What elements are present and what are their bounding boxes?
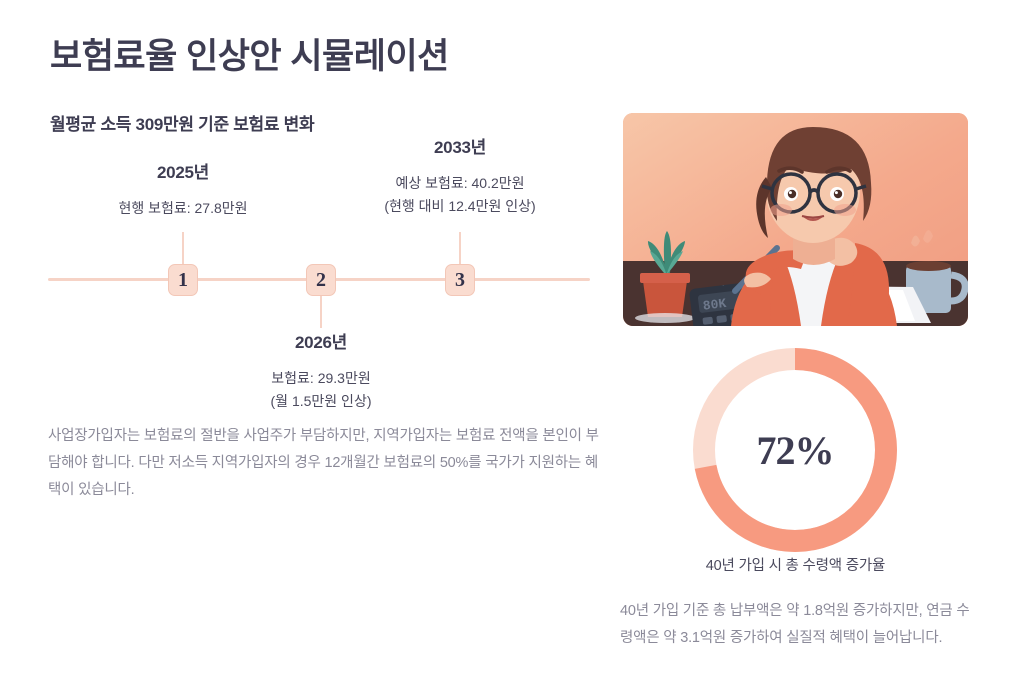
timeline-year-2: 2026년 xyxy=(191,328,451,353)
right-paragraph: 40년 가입 기준 총 납부액은 약 1.8억원 증가하지만, 연금 수령액은 … xyxy=(620,598,980,652)
timeline-detail-3-line-2: (현행 대비 12.4만원 인상) xyxy=(330,195,590,218)
timeline-stem-2 xyxy=(320,296,322,328)
infographic-page: 보험료율 인상안 시뮬레이션 월평균 소득 309만원 기준 보험료 변화 20… xyxy=(0,0,1024,688)
retirement-increase-donut: 72% xyxy=(693,348,897,552)
premium-timeline: 2025년 현행 보험료: 27.8만원 1 2 2026년 보험료: 29.3… xyxy=(0,150,610,430)
svg-text:80K: 80K xyxy=(702,296,727,314)
timeline-detail-3-line-1: 예상 보험료: 40.2만원 xyxy=(330,172,590,195)
timeline-year-3: 2033년 xyxy=(330,133,590,158)
timeline-stem-3 xyxy=(459,232,461,264)
illustration-svg: 80K xyxy=(623,113,968,326)
timeline-label-2: 2026년 보험료: 29.3만원 (월 1.5만원 인상) xyxy=(191,328,451,413)
desk-worker-illustration: 80K xyxy=(623,113,968,326)
donut-caption: 40년 가입 시 총 수령액 증가율 xyxy=(623,554,968,575)
page-title: 보험료율 인상안 시뮬레이션 xyxy=(50,28,449,79)
timeline-stem-1 xyxy=(182,232,184,264)
timeline-marker-1[interactable]: 1 xyxy=(168,264,198,296)
timeline-label-3: 2033년 예상 보험료: 40.2만원 (현행 대비 12.4만원 인상) xyxy=(330,133,590,218)
section-subtitle: 월평균 소득 309만원 기준 보험료 변화 xyxy=(50,110,314,135)
timeline-label-1: 2025년 현행 보험료: 27.8만원 xyxy=(53,158,313,220)
timeline-detail-2-line-2: (월 1.5만원 인상) xyxy=(191,390,451,413)
timeline-marker-2[interactable]: 2 xyxy=(306,264,336,296)
timeline-year-1: 2025년 xyxy=(53,158,313,183)
timeline-marker-3[interactable]: 3 xyxy=(445,264,475,296)
timeline-detail-1-line-1: 현행 보험료: 27.8만원 xyxy=(53,197,313,220)
donut-center-label: 72% xyxy=(693,348,897,552)
timeline-detail-2-line-1: 보험료: 29.3만원 xyxy=(191,367,451,390)
left-paragraph: 사업장가입자는 보험료의 절반을 사업주가 부담하지만, 지역가입자는 보험료 … xyxy=(48,423,600,503)
